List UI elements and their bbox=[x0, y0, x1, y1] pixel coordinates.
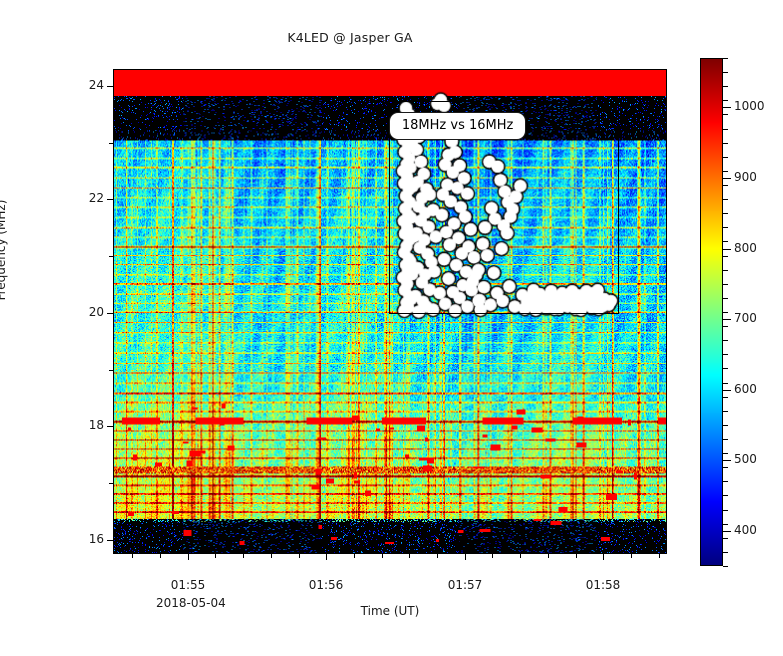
colorbar-minor-tick bbox=[723, 213, 728, 214]
colorbar-minor-tick bbox=[723, 72, 728, 73]
colorbar-major-tick bbox=[723, 319, 731, 320]
colorbar-minor-tick bbox=[723, 298, 728, 299]
colorbar-minor-tick bbox=[723, 383, 728, 384]
x-minor-tick bbox=[132, 554, 133, 558]
y-tick-label: 16 bbox=[73, 532, 104, 546]
y-axis-label: Frequency (MHz) bbox=[0, 200, 8, 301]
colorbar-minor-tick bbox=[723, 453, 728, 454]
colorbar-minor-tick bbox=[723, 495, 728, 496]
colorbar-minor-tick bbox=[723, 524, 728, 525]
colorbar-minor-tick bbox=[723, 354, 728, 355]
colorbar-minor-tick bbox=[723, 340, 728, 341]
colorbar-canvas bbox=[701, 59, 722, 565]
colorbar-minor-tick bbox=[723, 171, 728, 172]
figure-canvas: K4LED @ Jasper GA Frequency (MHz) 161820… bbox=[0, 0, 783, 656]
colorbar-minor-tick bbox=[723, 199, 728, 200]
colorbar-tick-label: 800 bbox=[734, 241, 757, 255]
spectrogram-plot-area[interactable]: 18MHz vs 16MHz bbox=[113, 69, 667, 554]
colorbar-minor-tick bbox=[723, 86, 728, 87]
x-major-tick bbox=[188, 554, 189, 560]
colorbar-major-tick bbox=[723, 249, 731, 250]
colorbar-minor-tick bbox=[723, 467, 728, 468]
colorbar-minor-tick bbox=[723, 552, 728, 553]
colorbar-minor-tick bbox=[723, 312, 728, 313]
colorbar-minor-tick bbox=[723, 185, 728, 186]
x-minor-tick bbox=[659, 554, 660, 558]
y-tick-label: 24 bbox=[73, 78, 104, 92]
colorbar[interactable] bbox=[700, 58, 723, 566]
colorbar-minor-tick bbox=[723, 241, 728, 242]
colorbar-minor-tick bbox=[723, 227, 728, 228]
colorbar-minor-tick bbox=[723, 326, 728, 327]
x-tick-label: 01:56 bbox=[296, 578, 356, 592]
x-minor-tick bbox=[548, 554, 549, 558]
y-tick-label: 18 bbox=[73, 418, 104, 432]
x-minor-tick bbox=[631, 554, 632, 558]
colorbar-minor-tick bbox=[723, 157, 728, 158]
colorbar-minor-tick bbox=[723, 129, 728, 130]
x-minor-tick bbox=[437, 554, 438, 558]
x-axis-label: Time (UT) bbox=[113, 604, 667, 618]
x-minor-tick bbox=[382, 554, 383, 558]
spectrogram-image bbox=[114, 70, 666, 553]
colorbar-minor-tick bbox=[723, 439, 728, 440]
x-minor-tick bbox=[520, 554, 521, 558]
colorbar-major-tick bbox=[723, 460, 731, 461]
colorbar-major-tick bbox=[723, 107, 731, 108]
colorbar-tick-label: 900 bbox=[734, 170, 757, 184]
x-minor-tick bbox=[215, 554, 216, 558]
colorbar-major-tick bbox=[723, 531, 731, 532]
x-major-tick bbox=[465, 554, 466, 560]
colorbar-minor-tick bbox=[723, 256, 728, 257]
colorbar-tick-label: 700 bbox=[734, 311, 757, 325]
x-tick-label: 01:57 bbox=[435, 578, 495, 592]
colorbar-major-tick bbox=[723, 178, 731, 179]
x-major-tick bbox=[603, 554, 604, 560]
colorbar-minor-tick bbox=[723, 100, 728, 101]
colorbar-major-tick bbox=[723, 390, 731, 391]
colorbar-minor-tick bbox=[723, 510, 728, 511]
colorbar-tick-label: 400 bbox=[734, 523, 757, 537]
annotation-label: 18MHz vs 16MHz bbox=[389, 112, 526, 140]
colorbar-minor-tick bbox=[723, 481, 728, 482]
colorbar-minor-tick bbox=[723, 143, 728, 144]
colorbar-minor-tick bbox=[723, 397, 728, 398]
colorbar-tick-label: 500 bbox=[734, 452, 757, 466]
y-tick-label: 22 bbox=[73, 191, 104, 205]
x-minor-tick bbox=[492, 554, 493, 558]
colorbar-minor-tick bbox=[723, 368, 728, 369]
y-tick-label: 20 bbox=[73, 305, 104, 319]
x-tick-label: 01:55 bbox=[158, 578, 218, 592]
colorbar-minor-tick bbox=[723, 58, 728, 59]
x-minor-tick bbox=[299, 554, 300, 558]
colorbar-tick-label: 600 bbox=[734, 382, 757, 396]
x-tick-label: 01:58 bbox=[573, 578, 633, 592]
x-minor-tick bbox=[409, 554, 410, 558]
x-major-tick bbox=[326, 554, 327, 560]
colorbar-gradient bbox=[700, 58, 723, 566]
x-minor-tick bbox=[576, 554, 577, 558]
colorbar-minor-tick bbox=[723, 411, 728, 412]
colorbar-minor-tick bbox=[723, 566, 728, 567]
x-minor-tick bbox=[354, 554, 355, 558]
colorbar-minor-tick bbox=[723, 284, 728, 285]
x-minor-tick bbox=[160, 554, 161, 558]
colorbar-minor-tick bbox=[723, 270, 728, 271]
page-title: K4LED @ Jasper GA bbox=[0, 30, 700, 45]
spectrogram-raster bbox=[114, 70, 666, 553]
x-minor-tick bbox=[243, 554, 244, 558]
colorbar-minor-tick bbox=[723, 538, 728, 539]
colorbar-minor-tick bbox=[723, 114, 728, 115]
x-minor-tick bbox=[271, 554, 272, 558]
colorbar-tick-label: 1000 bbox=[734, 99, 765, 113]
colorbar-minor-tick bbox=[723, 425, 728, 426]
